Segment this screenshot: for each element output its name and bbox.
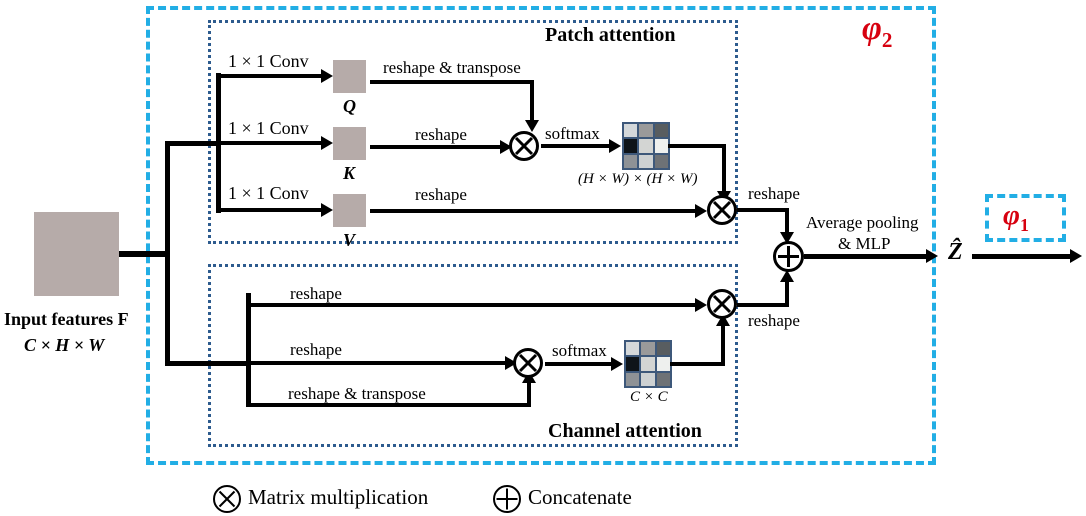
input-feature-label-line2: C × H × W	[24, 336, 104, 354]
channel-branch3-horizontal	[246, 403, 531, 407]
matrix-cell	[657, 342, 670, 355]
conv-arrow-q-line	[216, 74, 321, 78]
matrix-cell	[657, 357, 670, 370]
patch-out-vertical	[785, 208, 789, 234]
channel-branch3-vertical	[527, 382, 531, 407]
phi2-label: φ2	[862, 10, 892, 53]
tensor-block-k	[333, 127, 366, 160]
phi1-label: φ1	[1003, 199, 1029, 236]
channel-branch1-arrowhead	[695, 298, 707, 312]
attention-matrix-channel	[624, 340, 672, 388]
channel-reshape-label-2: reshape	[290, 341, 342, 358]
v-path-horizontal	[370, 209, 695, 213]
tensor-label-q: Q	[343, 97, 356, 115]
q-reshape-transpose-label: reshape & transpose	[383, 59, 521, 76]
matrix-cell	[655, 124, 668, 137]
channel-trunk-horizontal	[165, 361, 250, 366]
channel-attention-title: Channel attention	[548, 421, 702, 441]
q-path-arrowhead	[525, 120, 539, 132]
channel-reshape-label-1: reshape	[290, 285, 342, 302]
matrix-cell	[655, 155, 668, 168]
concat-op	[773, 241, 804, 272]
phi1-output-line	[972, 254, 1072, 259]
head-output-arrowhead	[926, 249, 938, 263]
channel-out-reshape-label: reshape	[748, 312, 800, 329]
k-reshape-label: reshape	[415, 126, 467, 143]
legend: Matrix multiplication Concatenate	[0, 481, 1086, 516]
matmul-op-patch-out	[707, 195, 737, 225]
matrix-cell	[626, 373, 639, 386]
matmul-op-channel	[513, 348, 543, 378]
legend-matmul-icon	[213, 485, 241, 513]
conv-arrow-k-head	[321, 136, 333, 150]
attention-matrix-patch	[622, 122, 670, 170]
legend-concat-label: Concatenate	[528, 487, 632, 508]
conv-label-k: 1 × 1 Conv	[228, 119, 309, 137]
figure-canvas: φ2 Patch attention Channel attention Inp…	[0, 0, 1086, 516]
softmax-arrow-channel-line	[545, 362, 611, 366]
conv-arrow-k-line	[216, 141, 321, 145]
channel-out-vertical	[785, 281, 789, 306]
matmul-op-channel-out	[707, 289, 737, 319]
matrix-cell	[657, 373, 670, 386]
conv-arrow-v-head	[321, 203, 333, 217]
matrix-cell	[626, 342, 639, 355]
tensor-label-k: K	[343, 164, 355, 182]
q-path-horizontal	[370, 80, 534, 84]
phi1-output-arrowhead	[1070, 249, 1082, 263]
v-path-arrowhead	[695, 204, 707, 218]
softmax-label-channel: softmax	[552, 342, 607, 359]
channel-reshape-label-3: reshape & transpose	[288, 385, 426, 402]
patch-trunk-horizontal	[165, 141, 220, 146]
z-hat-output-label: Ẑ	[948, 240, 963, 264]
conv-label-v: 1 × 1 Conv	[228, 184, 309, 202]
pooling-label-line1: Average pooling	[806, 214, 919, 231]
patch-out-reshape-label: reshape	[748, 185, 800, 202]
channel-branch1-horizontal	[246, 303, 695, 307]
matrix-cell	[624, 124, 637, 137]
matrix-cell	[639, 124, 652, 137]
v-reshape-label: reshape	[415, 186, 467, 203]
conv-arrow-q-head	[321, 69, 333, 83]
channel-out-horizontal	[737, 303, 789, 307]
tensor-label-v: V	[343, 231, 355, 249]
attention-matrix-channel-caption: C × C	[630, 390, 668, 405]
legend-concat-icon	[493, 485, 521, 513]
q-path-vertical	[530, 80, 534, 122]
k-path-horizontal	[370, 145, 500, 149]
tensor-block-q	[333, 60, 366, 93]
channel-matrix-out-vertical	[721, 325, 725, 366]
softmax-arrow-channel-head	[611, 357, 623, 371]
legend-matmul-label: Matrix multiplication	[248, 487, 428, 508]
patch-matrix-out-horizontal	[668, 144, 726, 148]
softmax-arrow-patch-head	[609, 139, 621, 153]
conv-label-q: 1 × 1 Conv	[228, 52, 309, 70]
input-stem-line	[119, 251, 169, 257]
patch-attention-title: Patch attention	[545, 25, 676, 45]
input-feature-label-line1: Input features F	[4, 310, 129, 328]
conv-arrow-v-line	[216, 208, 321, 212]
matrix-cell	[641, 342, 654, 355]
matrix-cell	[624, 139, 637, 152]
matrix-cell	[641, 373, 654, 386]
softmax-arrow-patch-line	[541, 144, 609, 148]
matrix-cell	[639, 155, 652, 168]
attention-matrix-patch-caption: (H × W) × (H × W)	[578, 172, 698, 187]
channel-matrix-out-horizontal	[670, 362, 725, 366]
patch-out-horizontal	[737, 208, 789, 212]
matrix-cell	[639, 139, 652, 152]
softmax-label-patch: softmax	[545, 125, 600, 142]
matrix-cell	[641, 357, 654, 370]
input-feature-block	[34, 212, 119, 296]
matrix-cell	[626, 357, 639, 370]
patch-matrix-out-vertical	[722, 144, 726, 193]
head-output-line	[804, 254, 926, 259]
pooling-label-line2: & MLP	[838, 235, 890, 252]
tensor-block-v	[333, 194, 366, 227]
matrix-cell	[624, 155, 637, 168]
matmul-op-patch	[509, 131, 539, 161]
channel-branch2-horizontal	[246, 361, 505, 365]
main-trunk-vertical	[165, 141, 170, 366]
matrix-cell	[655, 139, 668, 152]
channel-splitter-vertical	[246, 293, 251, 403]
